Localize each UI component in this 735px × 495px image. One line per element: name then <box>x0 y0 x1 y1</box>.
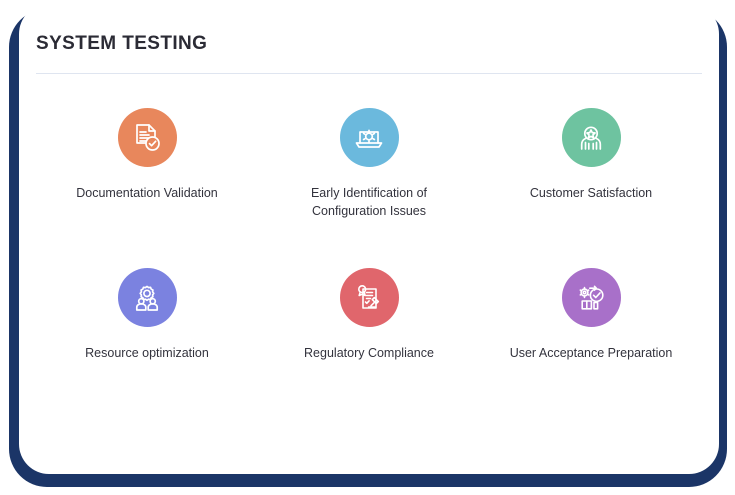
laptop-gear-icon <box>351 120 387 156</box>
card-header: SYSTEM TESTING <box>36 34 702 74</box>
feature-label: Customer Satisfaction <box>530 184 652 202</box>
icon-circle-early-identification <box>340 108 399 167</box>
document-check-icon <box>129 120 165 156</box>
feature-label: Documentation Validation <box>76 184 218 202</box>
card-surface: SYSTEM TESTING Doc <box>19 4 719 474</box>
feature-item-regulatory-compliance[interactable]: Regulatory Compliance <box>258 264 480 424</box>
icon-circle-customer-satisfaction <box>562 108 621 167</box>
feature-item-customer-satisfaction[interactable]: Customer Satisfaction <box>480 104 702 264</box>
clipboard-gavel-icon <box>351 280 387 316</box>
feature-label: User Acceptance Preparation <box>510 344 673 362</box>
feature-label: Resource optimization <box>85 344 209 362</box>
gear-check-box-icon <box>573 280 609 316</box>
feature-label: Early Identification of Configuration Is… <box>282 184 457 220</box>
people-gear-icon <box>129 280 165 316</box>
icon-circle-regulatory-compliance <box>340 268 399 327</box>
hands-star-icon <box>573 120 609 156</box>
feature-item-documentation-validation[interactable]: Documentation Validation <box>36 104 258 264</box>
title-divider <box>36 73 702 74</box>
feature-label: Regulatory Compliance <box>304 344 434 362</box>
feature-item-resource-optimization[interactable]: Resource optimization <box>36 264 258 424</box>
feature-item-user-acceptance-preparation[interactable]: User Acceptance Preparation <box>480 264 702 424</box>
infographic-card: SYSTEM TESTING Doc <box>0 0 735 495</box>
page-title: SYSTEM TESTING <box>36 34 702 55</box>
icon-circle-documentation-validation <box>118 108 177 167</box>
icon-circle-resource-optimization <box>118 268 177 327</box>
icon-circle-user-acceptance-preparation <box>562 268 621 327</box>
feature-item-early-identification[interactable]: Early Identification of Configuration Is… <box>258 104 480 264</box>
feature-grid: Documentation Validation Early Identific… <box>36 104 702 424</box>
